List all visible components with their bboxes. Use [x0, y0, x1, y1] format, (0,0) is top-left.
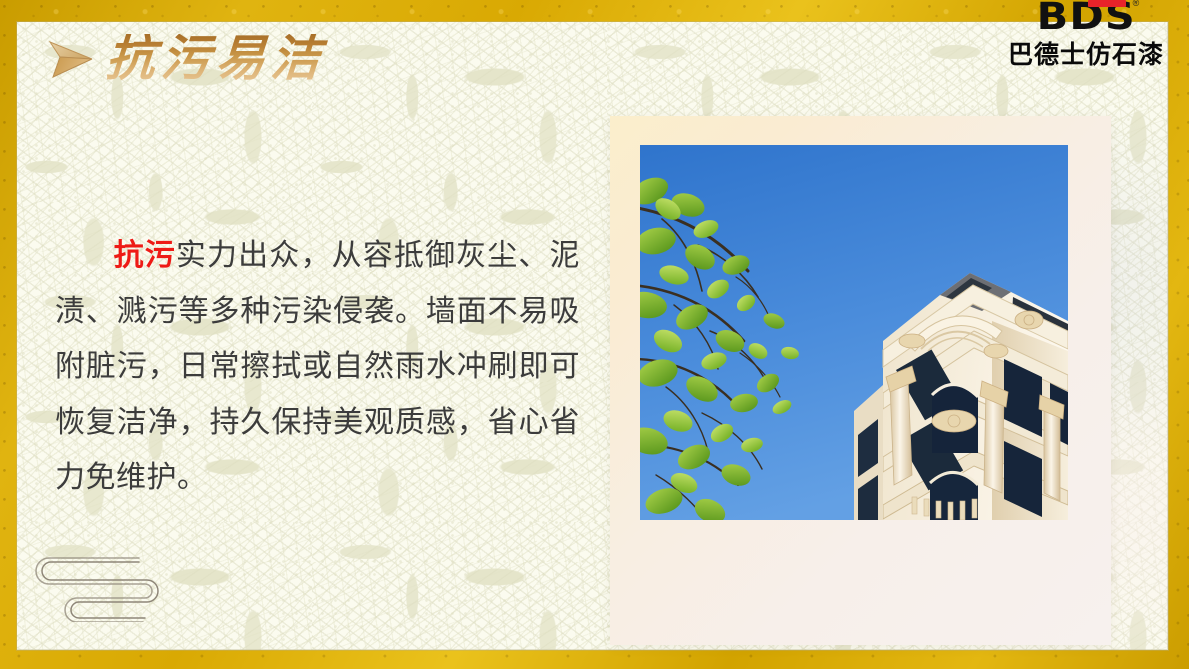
body-paragraph: 抗污实力出众，从容抵御灰尘、泥渍、溅污等多种污染侵袭。墙面不易吸附脏污，日常擦拭… — [55, 228, 580, 506]
slide: 抗污易洁 抗污实力出众，从容抵御灰尘、泥渍、溅污等多种污染侵袭。墙面不易吸附脏污… — [0, 0, 1189, 669]
chinese-meander-ornament — [27, 546, 177, 622]
page-title: 抗污易洁 — [104, 34, 333, 83]
logo-chinese-name: 巴德士仿石漆 — [1001, 35, 1171, 71]
paragraph-text: 实力出众，从容抵御灰尘、泥渍、溅污等多种污染侵袭。墙面不易吸附脏污，日常擦拭或自… — [55, 238, 580, 495]
title-row: 抗污易洁 — [44, 34, 332, 83]
brand-logo: BDS ® 巴德士仿石漆 — [1001, 0, 1171, 71]
building-photo — [640, 145, 1068, 520]
logo-red-bar — [1088, 0, 1126, 7]
registered-trademark-icon: ® — [1133, 0, 1140, 8]
arrow-marker-icon — [44, 35, 96, 83]
logo-mark: BDS ® — [1042, 0, 1131, 36]
photo-frame — [610, 116, 1111, 645]
highlight-keyword: 抗污 — [113, 238, 176, 273]
